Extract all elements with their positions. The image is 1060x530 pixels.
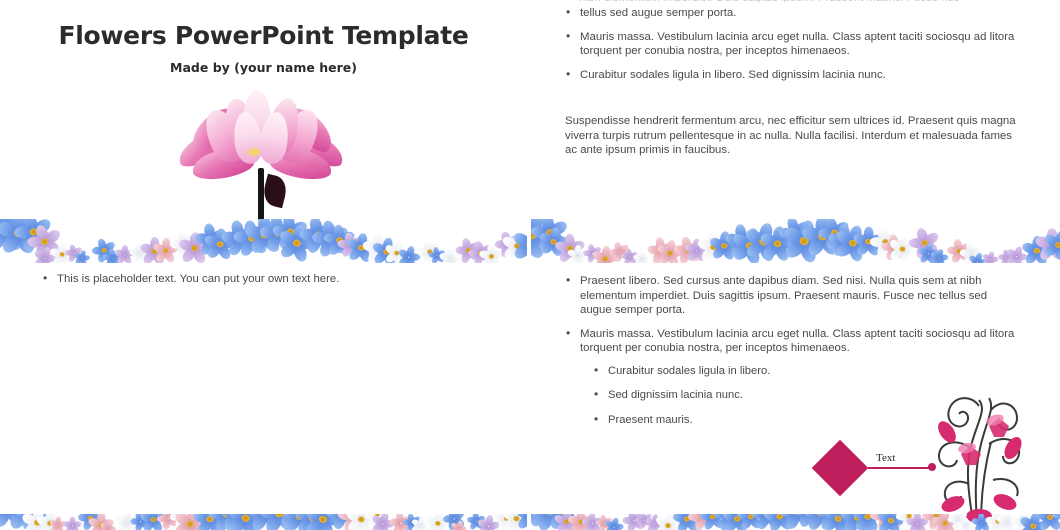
border-flower	[64, 245, 73, 254]
body-paragraph: Suspendisse hendrerit fermentum arcu, ne…	[565, 114, 1017, 158]
border-flower	[568, 245, 579, 256]
bullet-text: Curabitur sodales ligula in libero. Sed …	[580, 69, 886, 81]
border-flower	[389, 514, 403, 526]
clipped-text-line: nibh elementum imperdiet. Duis sagittis …	[579, 0, 1019, 2]
border-flower	[1007, 244, 1021, 258]
page-title: Flowers PowerPoint Template	[0, 21, 527, 50]
bullet-text: Mauris massa. Vestibulum lacinia arcu eg…	[580, 31, 1014, 58]
border-flower	[426, 514, 444, 527]
list-item: Mauris massa. Vestibulum lacinia arcu eg…	[565, 30, 1017, 59]
border-flower	[154, 238, 171, 255]
border-flower	[101, 519, 109, 527]
border-flower	[372, 514, 388, 527]
lotus-leaf	[261, 174, 290, 208]
forget-me-not-flower-border	[0, 219, 527, 263]
slide-text[interactable]: nibh elementum imperdiet. Duis sagittis …	[531, 0, 1060, 263]
border-flower	[103, 249, 113, 259]
border-flower	[452, 519, 460, 527]
border-flower	[634, 514, 643, 522]
border-flower	[51, 243, 65, 257]
border-flower	[129, 243, 140, 254]
list-item: tellus sed augue semper porta.	[565, 6, 1017, 21]
bullet-text: This is placeholder text. You can put yo…	[57, 273, 339, 285]
pink-floral-swirl-ornament-icon	[917, 392, 1035, 524]
border-flower	[399, 244, 414, 259]
page-subtitle: Made by (your name here)	[0, 60, 527, 75]
border-flower	[428, 247, 436, 255]
bullet-list: tellus sed augue semper porta. Mauris ma…	[565, 6, 1017, 91]
border-flower	[907, 514, 920, 525]
border-flower	[983, 250, 991, 258]
border-flower	[75, 249, 82, 256]
border-flower	[919, 243, 931, 255]
lotus-center	[248, 148, 260, 156]
diamond-shape[interactable]	[812, 440, 869, 497]
slide-bullets[interactable]: Praesent libero. Sed cursus ante dapibus…	[531, 266, 1060, 530]
slide-title[interactable]: Flowers PowerPoint Template Made by (you…	[0, 0, 527, 263]
forget-me-not-flower-border	[531, 219, 1060, 263]
border-flower	[972, 514, 982, 523]
border-flower	[998, 250, 1006, 258]
border-flower	[582, 245, 593, 256]
border-flower	[412, 515, 422, 525]
list-item: This is placeholder text. You can put yo…	[42, 272, 472, 287]
border-flower	[959, 518, 965, 524]
bullet-list: This is placeholder text. You can put yo…	[42, 272, 472, 296]
border-flower	[621, 249, 629, 257]
border-flower	[440, 248, 452, 260]
border-flower	[606, 516, 617, 527]
border-flower	[467, 514, 476, 522]
border-flower	[931, 248, 940, 257]
border-flower	[608, 243, 621, 256]
border-flower	[946, 514, 959, 523]
bullet-text: tellus sed augue semper porta.	[580, 7, 736, 19]
border-flower	[50, 516, 58, 524]
border-flower	[478, 514, 492, 528]
border-flower	[969, 251, 980, 262]
border-flower	[64, 517, 73, 526]
border-flower	[997, 514, 1009, 524]
border-flower	[402, 515, 412, 525]
border-flower	[515, 514, 527, 526]
slide-divider-horizontal	[0, 263, 1060, 266]
border-flower	[634, 251, 641, 258]
slide-picture[interactable]: This is placeholder text. You can put yo…	[0, 266, 527, 530]
border-flower	[480, 245, 495, 260]
forget-me-not-flower-border	[531, 514, 1060, 530]
border-flower	[116, 514, 130, 524]
lotus-stem	[258, 168, 264, 220]
border-flower	[116, 245, 126, 255]
pink-lotus-flower-icon	[182, 86, 342, 216]
border-flower	[646, 514, 656, 523]
border-flower	[582, 514, 594, 525]
forget-me-not-flower-border	[0, 514, 527, 530]
border-flower	[595, 515, 604, 524]
callout-label: Text	[876, 452, 895, 464]
list-item: Curabitur sodales ligula in libero. Sed …	[565, 68, 1017, 83]
slide-deck-preview: Flowers PowerPoint Template Made by (you…	[0, 0, 1060, 530]
